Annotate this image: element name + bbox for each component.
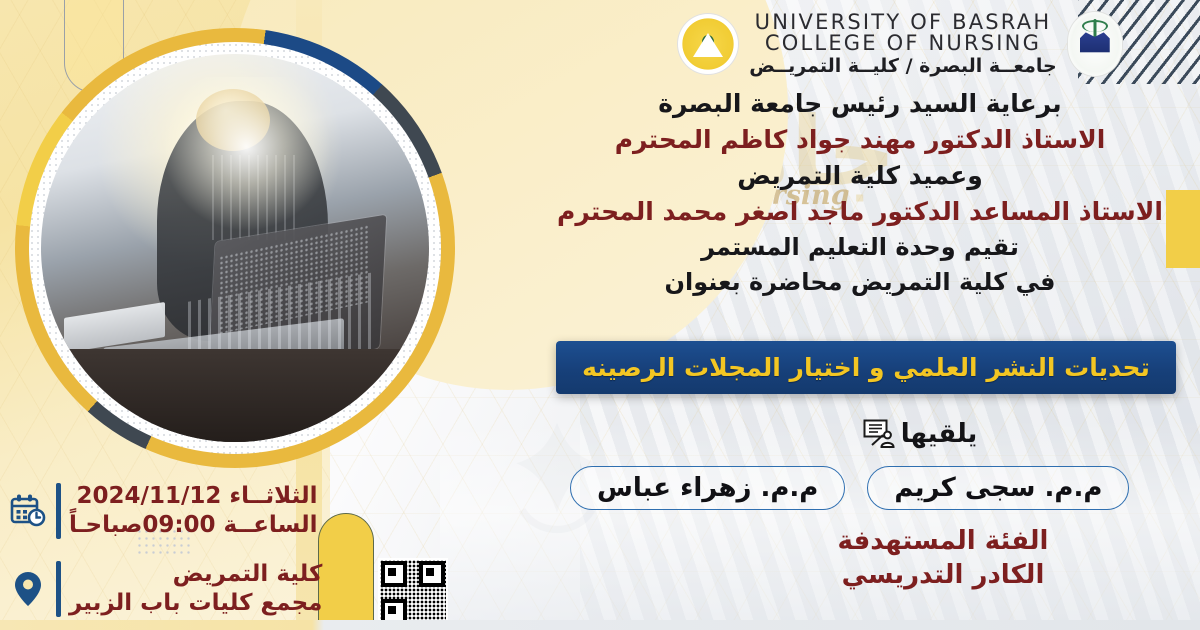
decor-gold-arch	[318, 513, 374, 630]
lecturer-presentation-icon	[863, 419, 895, 449]
bottom-strip	[0, 620, 1200, 630]
date-divider	[56, 483, 61, 539]
lecture-title-banner: تحديات النشر العلمي و اختيار المجلات الر…	[556, 341, 1176, 394]
header-text: UNIVERSITY OF BASRAH COLLEGE OF NURSING …	[749, 12, 1056, 76]
date-line: الثلاثــاء 2024/11/12	[69, 482, 318, 511]
photo-desk	[41, 349, 429, 442]
header: UNIVERSITY OF BASRAH COLLEGE OF NURSING …	[600, 4, 1200, 84]
presented-by-label: يلقيها	[901, 419, 978, 449]
target-audience-label: الفئة المستهدفة	[700, 524, 1186, 558]
location-lines: كلية التمريض مجمع كليات باب الزبير	[69, 560, 322, 618]
time-line: الساعــة 09:00صباحـاً	[69, 511, 318, 540]
date-lines: الثلاثــاء 2024/11/12 الساعــة 09:00صباح…	[69, 482, 318, 540]
location-divider	[56, 561, 61, 617]
calendar-clock-icon	[8, 488, 48, 534]
header-english-line-1: UNIVERSITY OF BASRAH	[755, 12, 1052, 33]
header-arabic-line: جامعــة البصرة / كليــة التمريــض	[749, 57, 1056, 76]
body-line-1: برعاية السيد رئيس جامعة البصرة	[530, 88, 1190, 120]
map-pin-icon	[8, 566, 48, 612]
body-line-6: في كلية التمريض محاضرة بعنوان	[530, 267, 1190, 298]
target-audience-block: الفئة المستهدفة الكادر التدريسي	[700, 524, 1186, 593]
body-line-2: الاستاذ الدكتور مهند جواد كاظم المحترم	[530, 124, 1190, 156]
poster-root: جامعة البصرة College Of Nursing 2009 LEG…	[0, 0, 1200, 630]
speaker-pill-2[interactable]: م.م. زهراء عباس	[570, 466, 845, 510]
photo-image	[41, 54, 429, 442]
location-block: كلية التمريض مجمع كليات باب الزبير	[8, 556, 308, 622]
location-line-2: مجمع كليات باب الزبير	[69, 589, 322, 618]
circular-photo	[15, 28, 455, 468]
target-audience-value: الكادر التدريسي	[700, 558, 1186, 592]
body-line-3: وعميد كلية التمريض	[530, 160, 1190, 192]
location-line-1: كلية التمريض	[69, 560, 322, 589]
presented-by-row: يلقيها	[820, 414, 1020, 454]
speakers-row: م.م. سجى كريم م.م. زهراء عباس	[570, 462, 1186, 514]
qr-code-icon[interactable]	[378, 558, 448, 628]
basrah-university-seal-icon	[677, 13, 739, 75]
body-line-5: تقيم وحدة التعليم المستمر	[530, 232, 1190, 263]
college-of-nursing-seal-icon	[1067, 11, 1123, 77]
decor-gold-rect-right	[1166, 190, 1200, 268]
lecture-title-text: تحديات النشر العلمي و اختيار المجلات الر…	[582, 353, 1150, 382]
photo-light-glow	[157, 77, 335, 232]
body-line-4: الاستاذ المساعد الدكتور ماجد اصغر محمد ا…	[530, 196, 1190, 228]
body-text-block: برعاية السيد رئيس جامعة البصرة الاستاذ ا…	[530, 88, 1190, 301]
header-english-line-2: COLLEGE OF NURSING	[765, 33, 1041, 54]
speaker-pill-1[interactable]: م.م. سجى كريم	[867, 466, 1129, 510]
date-time-block: الثلاثــاء 2024/11/12 الساعــة 09:00صباح…	[8, 478, 308, 544]
